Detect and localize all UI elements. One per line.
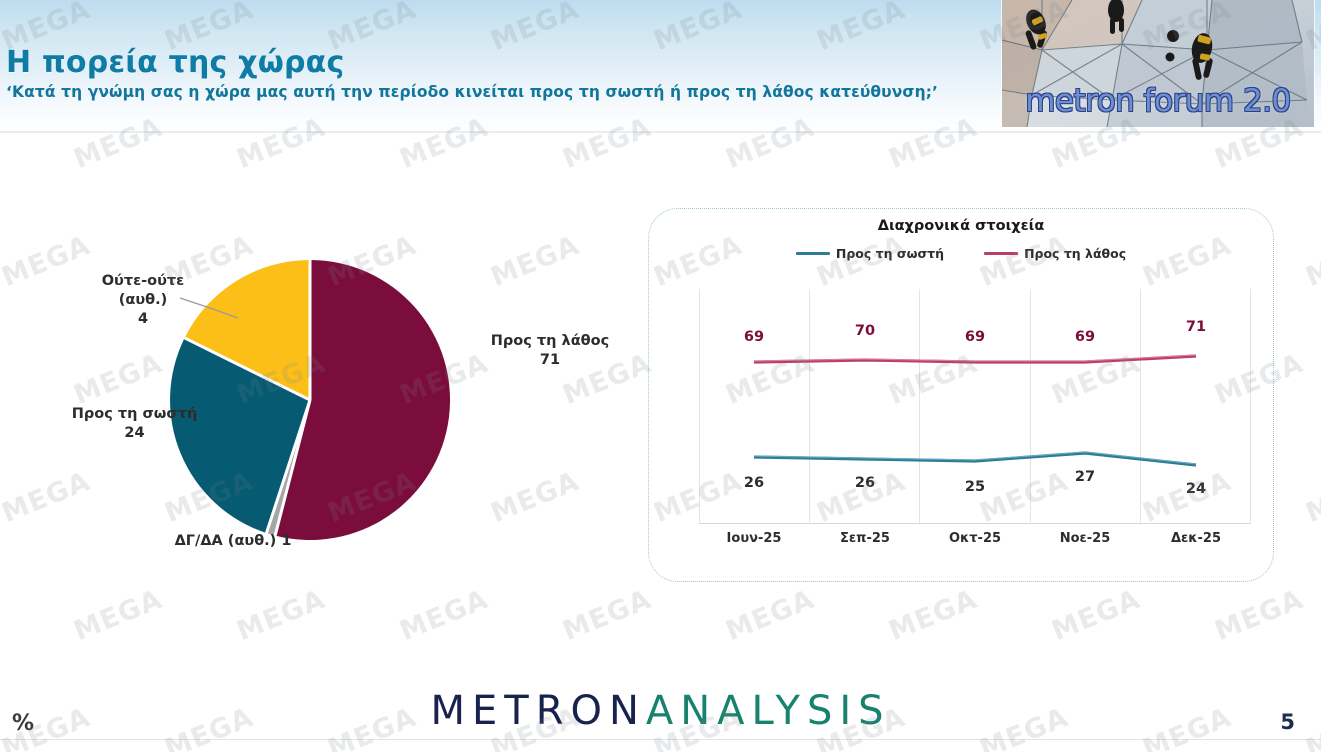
pie-chart-panel: Ούτε-ούτε (αυθ.) 4 Προς τη σωστή 24 ΔΓ/Δ… [10,150,630,590]
legend-item-sosti[interactable]: Προς τη σωστή [796,246,944,261]
timeseries-chart-title: Διαχρονικά στοιχεία [649,218,1273,234]
series-line-sosti [754,453,1196,465]
watermark-text: MEGA [233,584,330,647]
value-label-sosti-0: 26 [744,475,764,491]
logo-text-analysis: ANALYSIS [646,688,891,734]
page-subtitle: ‘Κατά τη γνώμη σας η χώρα μας αυτή την π… [6,81,938,103]
footer-divider [0,739,1321,740]
watermark-text: MEGA [885,584,982,647]
watermark-text: MEGA [1302,466,1321,529]
timeseries-x-axis: Ιουν-25 Σεπ-25 Οκτ-25 Νοε-25 Δεκ-25 [699,531,1251,557]
pie-label-sosti-value: 24 [62,424,207,443]
x-tick-3: Νοε-25 [1060,531,1111,546]
slide-root: Η πορεία της χώρας ‘Κατά τη γνώμη σας η … [0,0,1321,752]
watermark-text: MEGA [722,584,819,647]
pie-label-lathos: Προς τη λάθος 71 [470,332,630,370]
forum-logo-text: metron forum 2.0 [1002,83,1314,119]
watermark-text: MEGA [559,584,656,647]
watermark-text: MEGA [0,348,4,411]
page-number: 5 [1280,710,1295,734]
value-label-sosti-1: 26 [855,475,875,491]
watermark-text: MEGA [0,584,4,647]
watermark-text: MEGA [1302,230,1321,293]
value-label-lathos-1: 70 [855,323,875,339]
pie-chart-svg [10,150,630,590]
pie-label-sosti-text: Προς τη σωστή [62,405,207,424]
watermark-text: MEGA [1211,584,1308,647]
pie-label-sosti: Προς τη σωστή 24 [62,405,207,443]
page-title: Η πορεία της χώρας [6,46,938,80]
pie-label-oute-value: 4 [88,310,198,329]
watermark-text: MEGA [396,584,493,647]
x-tick-1: Σεπ-25 [840,531,890,546]
metron-forum-badge-image: metron forum 2.0 [1002,0,1314,127]
watermark-text: MEGA [70,584,167,647]
legend-swatch-lathos [984,252,1018,255]
watermark-text: MEGA [1048,584,1145,647]
value-label-lathos-2: 69 [965,329,985,345]
x-tick-2: Οκτ-25 [949,531,1001,546]
timeseries-plot-area: 69 70 69 69 71 26 26 25 27 24 [699,289,1251,524]
timeseries-chart-panel: Διαχρονικά στοιχεία Προς τη σωστή Προς τ… [648,208,1274,582]
timeseries-legend: Προς τη σωστή Προς τη λάθος [649,246,1273,261]
metron-analysis-logo: METRONANALYSIS [0,688,1321,734]
pie-label-lathos-value: 71 [470,351,630,370]
value-label-lathos-0: 69 [744,329,764,345]
pie-label-oute-oute: Ούτε-ούτε (αυθ.) 4 [88,272,198,329]
logo-text-metron: METRON [430,688,645,734]
pie-label-lathos-text: Προς τη λάθος [470,332,630,351]
pie-label-oute-line2: (αυθ.) [88,291,198,310]
x-tick-4: Δεκ-25 [1171,531,1221,546]
value-label-sosti-3: 27 [1075,469,1095,485]
value-label-sosti-2: 25 [965,479,985,495]
value-label-lathos-4: 71 [1186,319,1206,335]
legend-label-lathos: Προς τη λάθος [1024,246,1126,261]
legend-label-sosti: Προς τη σωστή [836,246,944,261]
pie-label-dgda: ΔΓ/ΔΑ (αυθ.) 1 [138,532,328,551]
legend-swatch-sosti [796,252,830,255]
value-label-sosti-4: 24 [1186,481,1206,497]
legend-item-lathos[interactable]: Προς τη λάθος [984,246,1126,261]
title-block: Η πορεία της χώρας ‘Κατά τη γνώμη σας η … [6,46,938,103]
header-divider [0,131,1321,133]
value-label-lathos-3: 69 [1075,329,1095,345]
x-tick-0: Ιουν-25 [727,531,782,546]
pie-label-oute-line1: Ούτε-ούτε [88,272,198,291]
